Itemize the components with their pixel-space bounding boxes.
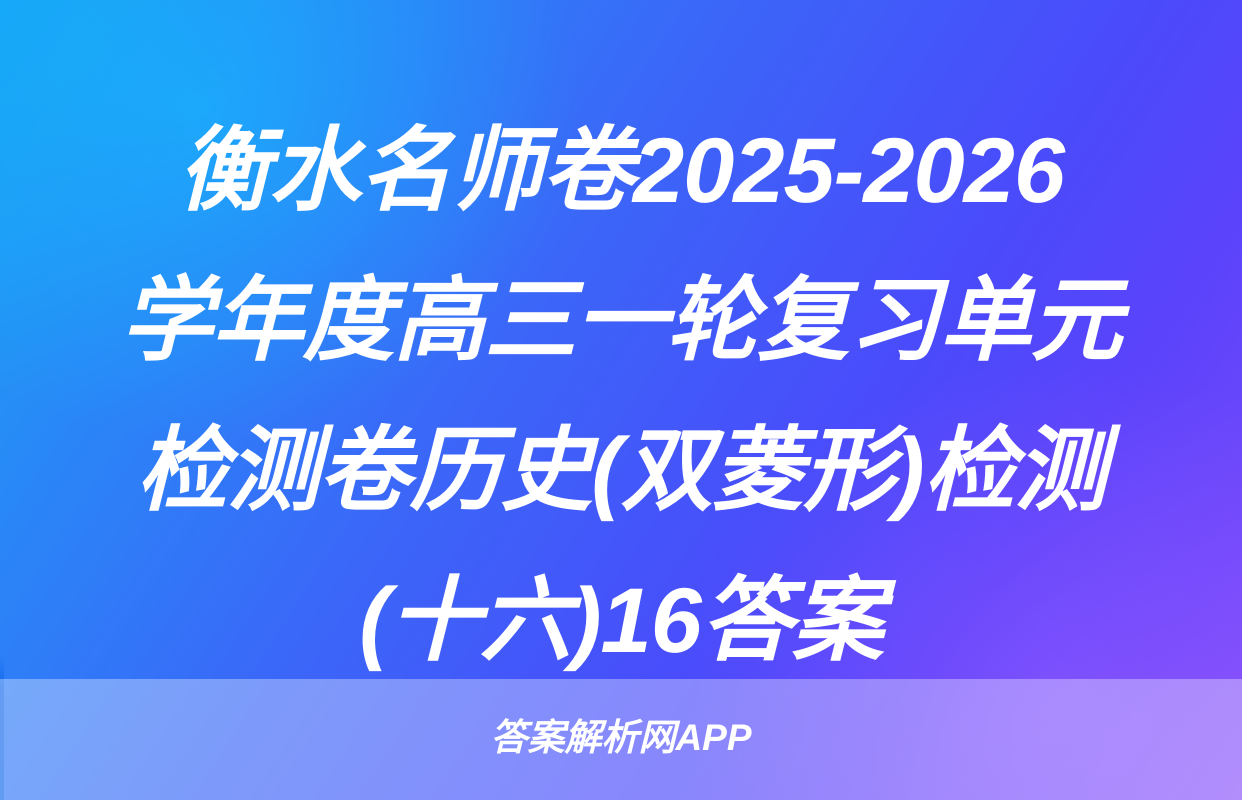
poster-canvas: 衡水名师卷2025-2026 学年度高三一轮复习单元 检测卷历史(双菱形)检测 … xyxy=(0,0,1242,800)
title-line-3: 检测卷历史(双菱形)检测 xyxy=(46,396,1196,546)
title-line-4: (十六)16答案 xyxy=(46,546,1196,696)
app-watermark-label: 答案解析网APP xyxy=(490,719,751,756)
page-title: 衡水名师卷2025-2026 学年度高三一轮复习单元 检测卷历史(双菱形)检测 … xyxy=(0,96,1242,696)
app-watermark-bar: 答案解析网APP xyxy=(0,679,1242,800)
title-line-2: 学年度高三一轮复习单元 xyxy=(46,246,1196,396)
title-line-1: 衡水名师卷2025-2026 xyxy=(46,96,1196,246)
